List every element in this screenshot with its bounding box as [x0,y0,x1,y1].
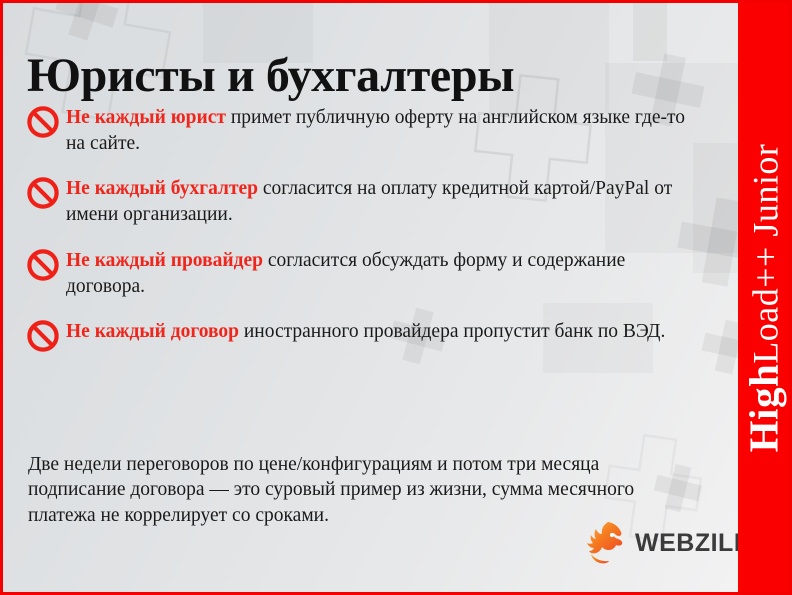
list-item-lead: Не каждый договор [66,321,239,342]
list-item-text: Не каждый провайдер согласится обсуждать… [66,247,686,299]
brand-rest-part: Load++ Junior [745,143,785,363]
prohibition-icon [26,176,60,210]
frame-border-top [0,0,792,3]
list-item-text: Не каждый договор иностранного провайдер… [66,318,686,345]
page-title: Юристы и бухгалтеры [27,50,687,102]
prohibition-icon [26,248,60,282]
brand-bold-part: High [740,363,786,452]
list-item: Не каждый бухгалтер согласится на оплату… [26,175,686,227]
conference-brand: HighLoad++ Junior [743,143,784,452]
list-item-text: Не каждый бухгалтер согласится на оплату… [66,175,686,227]
webzilla-logo: WEBZILLA [578,514,723,572]
dragon-icon [578,515,634,571]
frame-border-left [0,0,3,595]
list-item-lead: Не каждый провайдер [66,250,263,271]
slide-canvas: HighLoad++ Junior Юристы и бухгалтеры Не… [0,0,792,595]
list-item-rest: иностранного провайдера пропустит банк п… [239,321,665,342]
prohibition-icon [26,319,60,353]
list-item: Не каждый договор иностранного провайдер… [26,318,686,353]
prohibition-icon [26,105,60,139]
list-item: Не каждый юрист примет публичную оферту … [26,104,686,156]
bullet-list: Не каждый юрист примет публичную оферту … [26,104,686,372]
list-item-lead: Не каждый юрист [66,107,226,128]
list-item-lead: Не каждый бухгалтер [66,178,258,199]
list-item: Не каждый провайдер согласится обсуждать… [26,247,686,299]
closing-paragraph: Две недели переговоров по цене/конфигура… [28,452,668,530]
conference-sidebar: HighLoad++ Junior [738,3,789,592]
plus-shape [698,316,738,378]
list-item-text: Не каждый юрист примет публичную оферту … [66,104,686,156]
